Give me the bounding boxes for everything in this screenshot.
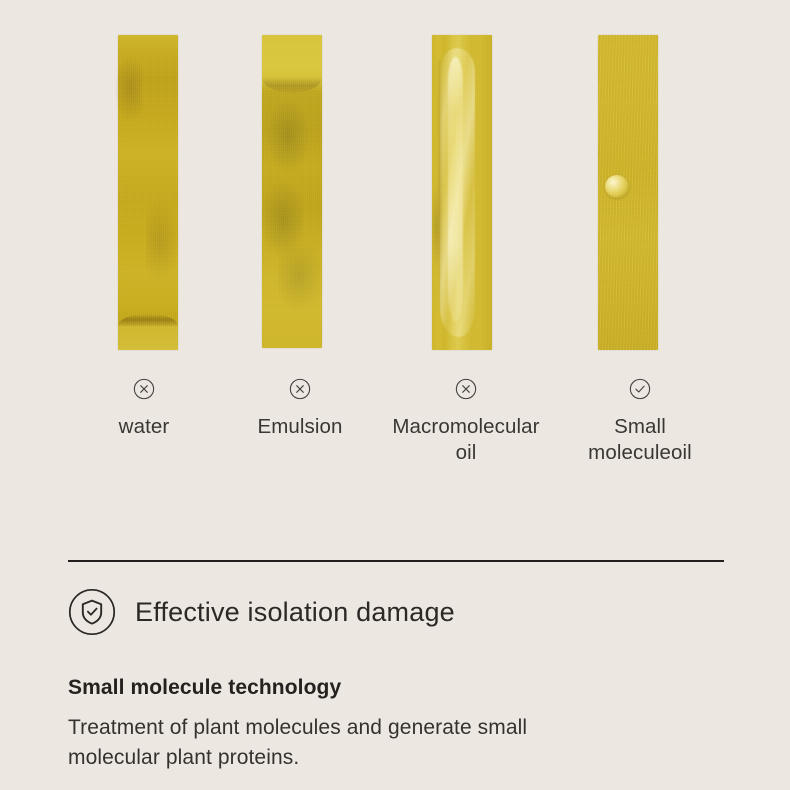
feature-subtitle: Small molecule technology <box>68 674 748 701</box>
oil-smear-highlight <box>448 57 464 322</box>
comparison-label-emulsion: Emulsion <box>222 414 378 440</box>
status-label-row: water Emulsion Macromolecular oil Small … <box>0 378 790 488</box>
feature-section: Effective isolation damage Small molecul… <box>68 588 748 773</box>
feature-heading-row: Effective isolation damage <box>68 588 748 636</box>
comparison-label-macromolecular-oil: Macromolecular oil <box>378 414 554 466</box>
comparison-column-macromolecular-oil: Macromolecular oil <box>378 378 554 466</box>
stain-blot <box>278 242 325 311</box>
circle-x-icon <box>133 378 155 400</box>
test-strip-macromolecular-oil <box>432 35 492 350</box>
test-strip-emulsion <box>262 35 322 348</box>
feature-title: Effective isolation damage <box>135 595 455 629</box>
comparison-column-emulsion: Emulsion <box>222 378 378 440</box>
test-strip-small-molecule-oil <box>598 35 658 350</box>
oil-smear-edge <box>438 60 442 312</box>
circle-x-icon <box>455 378 477 400</box>
circle-check-icon <box>629 378 651 400</box>
feature-body-text: Treatment of plant molecules and generat… <box>68 713 638 773</box>
comparison-label-small-molecule-oil: Small moleculeoil <box>556 414 724 466</box>
test-strip-water <box>118 35 178 350</box>
circle-x-icon <box>289 378 311 400</box>
wet-edge-line <box>262 77 322 93</box>
stain-blot <box>266 98 310 173</box>
comparison-label-water: water <box>68 414 220 440</box>
comparison-column-water: water <box>68 378 220 440</box>
section-divider <box>68 560 724 562</box>
tide-line <box>118 314 178 327</box>
shield-check-icon <box>68 588 116 636</box>
stain-blot <box>114 54 142 123</box>
stain-blot <box>146 199 181 281</box>
comparison-column-small-molecule-oil: Small moleculeoil <box>556 378 724 466</box>
